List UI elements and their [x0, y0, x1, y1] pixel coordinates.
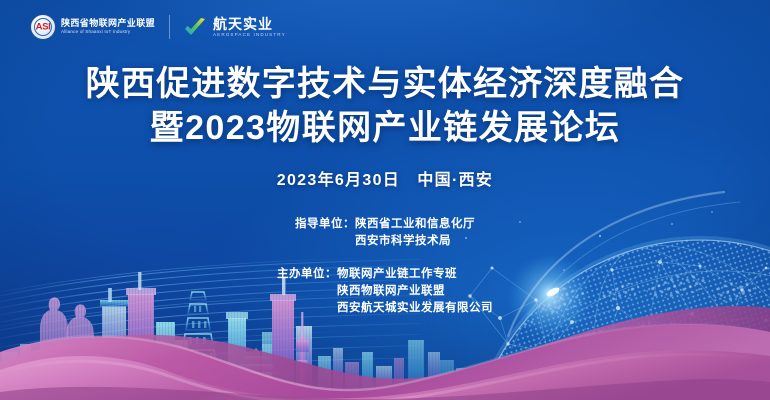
aerospace-logo-text: 航天实业 AEROSPACE INDUSTRY [213, 17, 286, 38]
date-location: 2023年6月30日 中国·西安 [0, 166, 770, 190]
host-unit-item: 西安航天城实业发展有限公司 [337, 300, 493, 317]
host-unit-group: 主办单位： 物联网产业链工作专班 陕西物联网产业联盟 西安航天城实业发展有限公司 [277, 266, 493, 317]
aerospace-swoosh-icon [184, 17, 206, 37]
host-unit-item: 陕西物联网产业联盟 [337, 283, 445, 300]
host-unit-item: 物联网产业链工作专班 [337, 266, 457, 283]
logo-divider [169, 15, 170, 39]
conference-banner: ASI 陕西省物联网产业联盟 Alliance of Shaanxi IoT I… [0, 0, 770, 400]
aerospace-logo[interactable]: 航天实业 AEROSPACE INDUSTRY [184, 17, 286, 38]
asi-logo-text: 陕西省物联网产业联盟 Alliance of Shaanxi IoT Indus… [61, 19, 155, 35]
title-line-1: 陕西促进数字技术与实体经济深度融合 [0, 62, 770, 106]
banner-content: 陕西促进数字技术与实体经济深度融合 暨2023物联网产业链发展论坛 2023年6… [0, 62, 770, 317]
guidance-unit-group: 指导单位： 陕西省工业和信息化厅 西安市科学技术局 [295, 216, 475, 250]
title-line-2: 暨2023物联网产业链发展论坛 [0, 106, 770, 150]
asi-logo-en: Alliance of Shaanxi IoT Industry [61, 30, 155, 35]
guidance-unit-item: 陕西省工业和信息化厅 [355, 216, 475, 233]
guidance-unit-item: 西安市科学技术局 [355, 233, 451, 250]
guidance-unit-label: 指导单位： [295, 216, 355, 233]
asi-mark-text: ASI [36, 23, 51, 33]
aerospace-logo-en: AEROSPACE INDUSTRY [213, 33, 286, 38]
organizer-block: 指导单位： 陕西省工业和信息化厅 西安市科学技术局 主办单位： 物联网产业链工作… [0, 216, 770, 317]
host-unit-label: 主办单位： [277, 266, 337, 283]
host-unit-values: 物联网产业链工作专班 陕西物联网产业联盟 西安航天城实业发展有限公司 [337, 266, 493, 317]
guidance-unit-values: 陕西省工业和信息化厅 西安市科学技术局 [355, 216, 475, 250]
logo-bar: ASI 陕西省物联网产业联盟 Alliance of Shaanxi IoT I… [0, 0, 770, 54]
aerospace-logo-cn: 航天实业 [213, 17, 286, 31]
asi-logo-cn: 陕西省物联网产业联盟 [61, 19, 155, 28]
asi-logo[interactable]: ASI 陕西省物联网产业联盟 Alliance of Shaanxi IoT I… [30, 14, 155, 40]
asi-emblem-icon: ASI [30, 14, 56, 40]
